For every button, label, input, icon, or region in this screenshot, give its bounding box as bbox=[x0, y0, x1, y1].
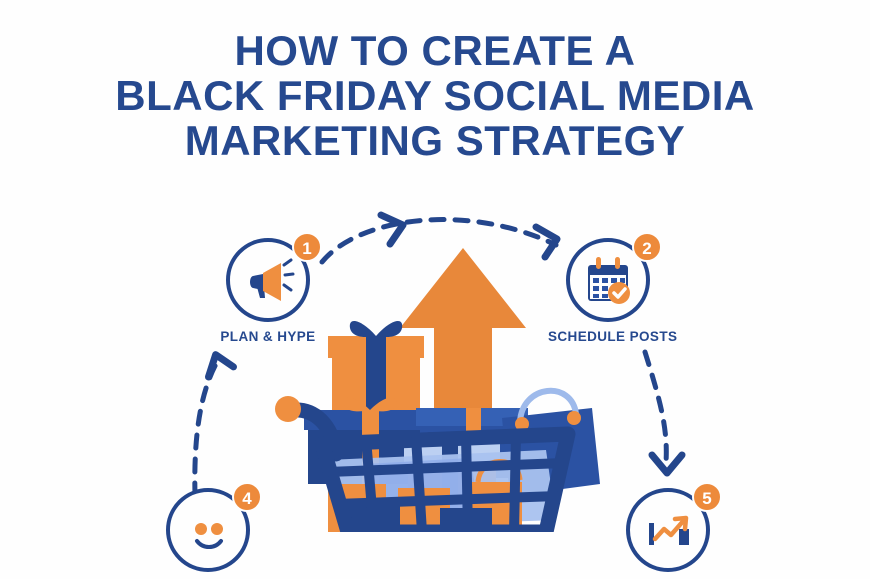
page-title: HOW TO CREATE A BLACK FRIDAY SOCIAL MEDI… bbox=[0, 28, 870, 163]
step-1-circle-wrap: 1 bbox=[226, 238, 310, 322]
step-5-circle-wrap: 5 bbox=[626, 488, 710, 572]
title-line-2: BLACK FRIDAY SOCIAL MEDIA bbox=[0, 73, 870, 118]
arrow-step2-to-step5 bbox=[645, 352, 682, 473]
step-1-label: PLAN & HYPE bbox=[208, 329, 328, 344]
step-5[interactable]: 5 bbox=[608, 488, 728, 579]
step-1[interactable]: 1 PLAN & HYPE bbox=[208, 238, 328, 344]
step-2-label: SCHEDULE POSTS bbox=[548, 329, 668, 344]
step-2-circle-wrap: 2 bbox=[566, 238, 650, 322]
step-1-badge: 1 bbox=[292, 232, 322, 262]
step-4[interactable]: 4 bbox=[148, 488, 268, 579]
title-line-3: MARKETING STRATEGY bbox=[0, 118, 870, 163]
step-2[interactable]: 2 SCHEDULE POSTS bbox=[548, 238, 668, 344]
step-4-badge: 4 bbox=[232, 482, 262, 512]
step-4-circle-wrap: 4 bbox=[166, 488, 250, 572]
step-5-badge: 5 bbox=[692, 482, 722, 512]
infographic-canvas: HOW TO CREATE A BLACK FRIDAY SOCIAL MEDI… bbox=[0, 0, 870, 520]
step-2-badge: 2 bbox=[632, 232, 662, 262]
title-line-1: HOW TO CREATE A bbox=[0, 28, 870, 73]
